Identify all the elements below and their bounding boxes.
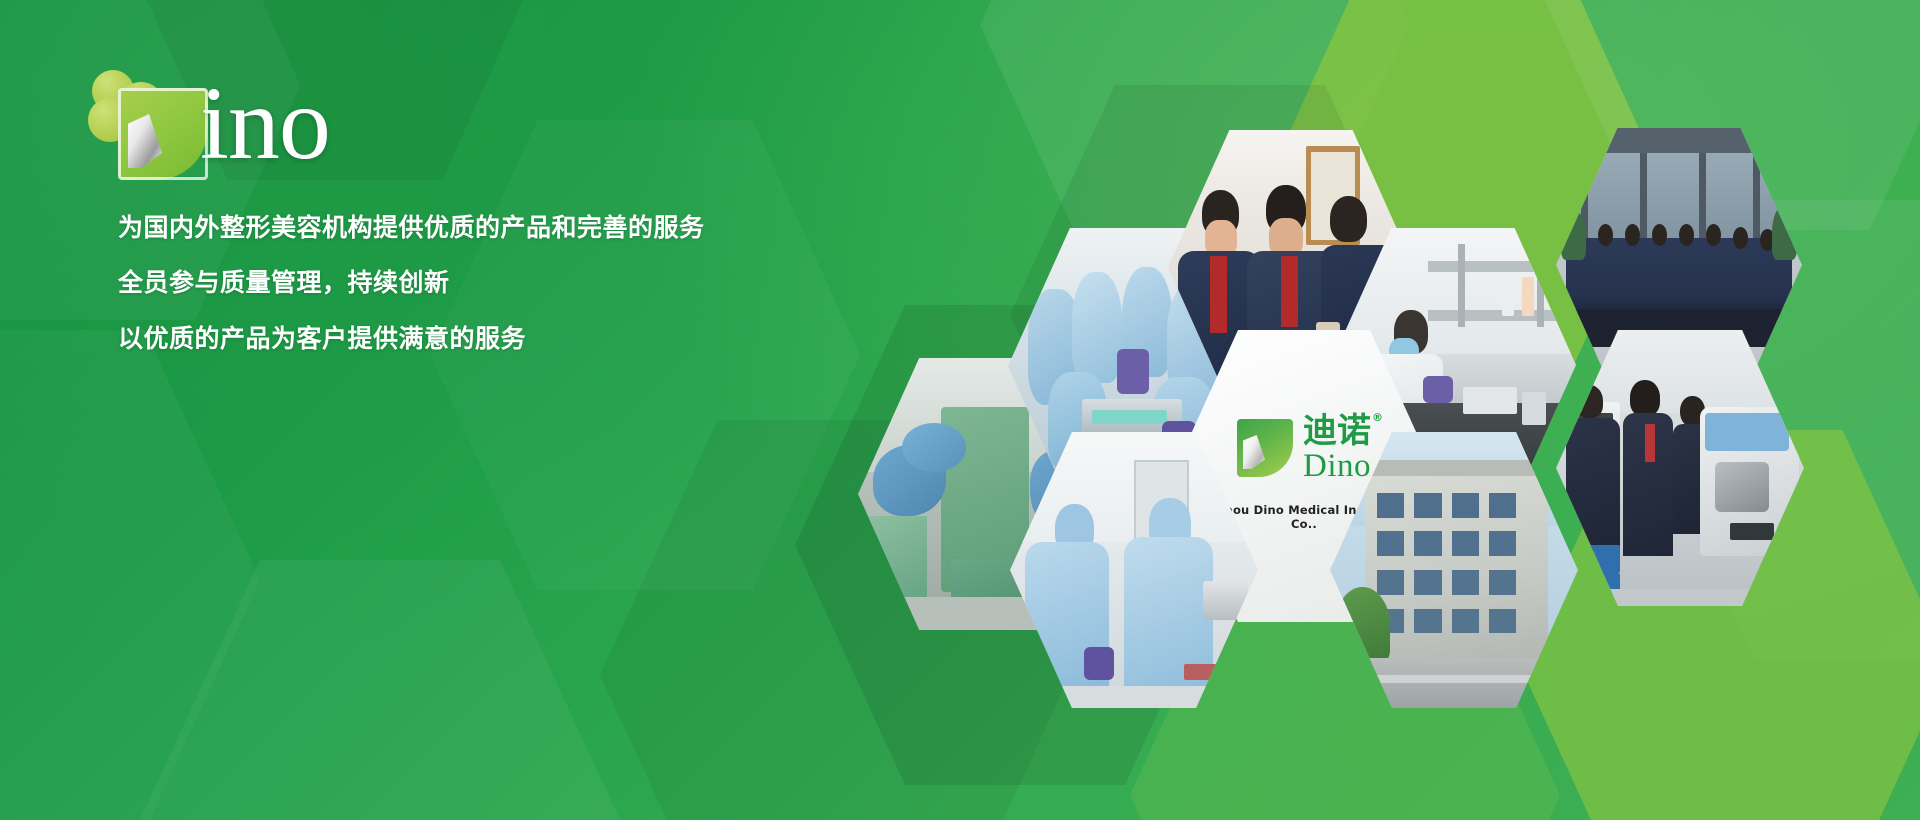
center-logo-d-leaf-icon: [1237, 419, 1293, 477]
brand-logo[interactable]: ino: [88, 68, 438, 178]
banner-content: ino 为国内外整形美容机构提供优质的产品和完善的服务 全员参与质量管理，持续创…: [0, 0, 860, 820]
banner-stage: ino 为国内外整形美容机构提供优质的产品和完善的服务 全员参与质量管理，持续创…: [0, 0, 1920, 820]
tagline-3: 以优质的产品为客户提供满意的服务: [118, 323, 838, 354]
tagline-1: 为国内外整形美容机构提供优质的产品和完善的服务: [118, 212, 838, 243]
center-logo-en-name: Dino: [1303, 450, 1371, 483]
logo-d-leaf-icon: [118, 88, 208, 180]
tagline-2: 全员参与质量管理，持续创新: [118, 267, 838, 298]
center-logo-cn-name: 迪诺®: [1303, 414, 1371, 448]
hex-photo-cnc-machining[interactable]: [1556, 330, 1804, 606]
tagline-list: 为国内外整形美容机构提供优质的产品和完善的服务 全员参与质量管理，持续创新 以优…: [118, 212, 838, 354]
logo-wordmark: ino: [200, 72, 330, 176]
